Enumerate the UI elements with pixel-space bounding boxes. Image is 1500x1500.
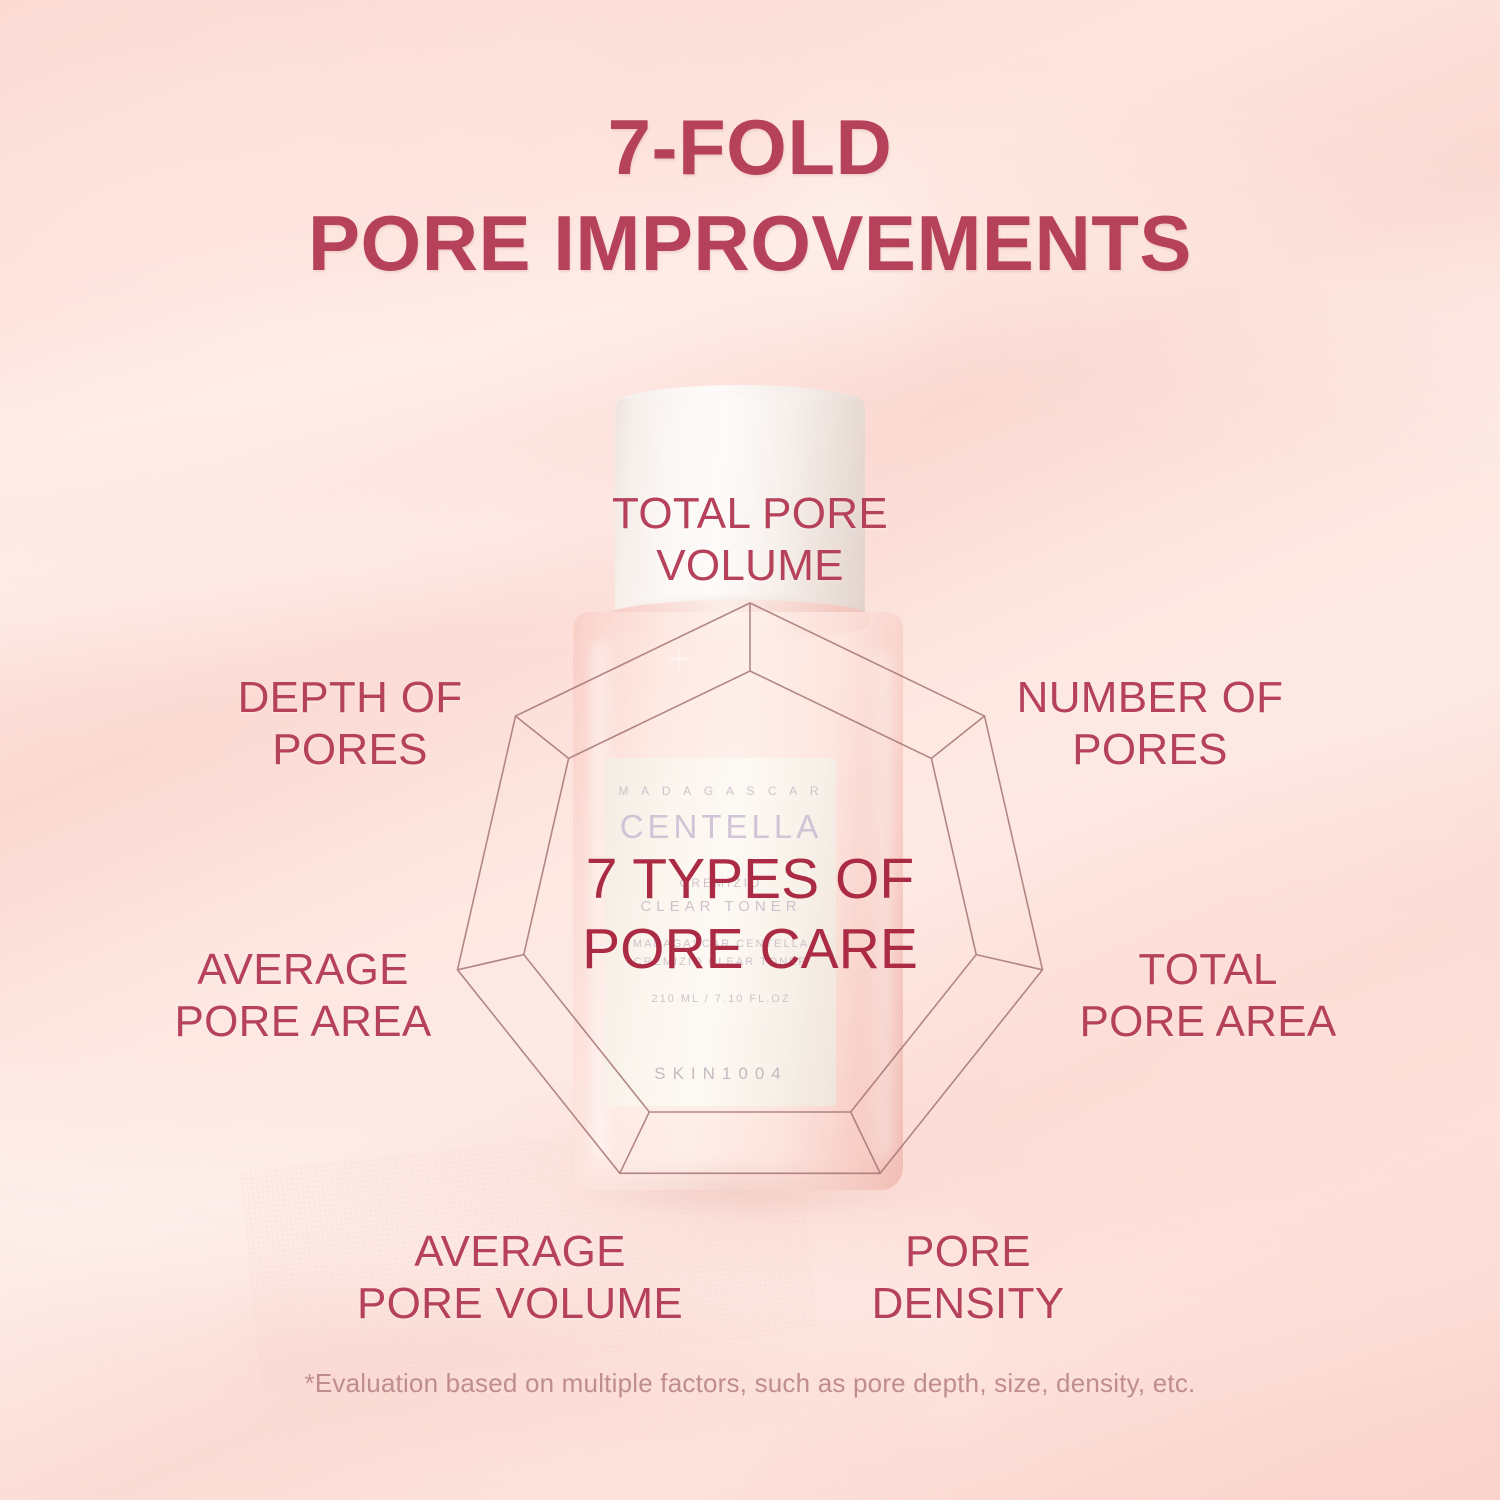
node-label-pore-density: PORE DENSITY bbox=[818, 1226, 1118, 1330]
node-label-depth-of-pores: DEPTH OF PORES bbox=[200, 672, 500, 776]
infographic-poster: 7-FOLD PORE IMPROVEMENTS M A D A G A S C… bbox=[0, 0, 1500, 1500]
footnote-text: *Evaluation based on multiple factors, s… bbox=[0, 1368, 1500, 1399]
center-caption: 7 TYPES OF PORE CARE bbox=[0, 845, 1500, 984]
node-label-average-pore-volume: AVERAGE PORE VOLUME bbox=[320, 1226, 720, 1330]
node-label-total-pore-volume: TOTAL PORE VOLUME bbox=[520, 488, 980, 592]
heptagon-spoke bbox=[931, 716, 984, 758]
heptagon-spoke bbox=[851, 1112, 881, 1173]
node-label-number-of-pores: NUMBER OF PORES bbox=[1000, 672, 1300, 776]
heptagon-spoke bbox=[516, 716, 569, 758]
heptagon-spoke bbox=[620, 1112, 650, 1173]
